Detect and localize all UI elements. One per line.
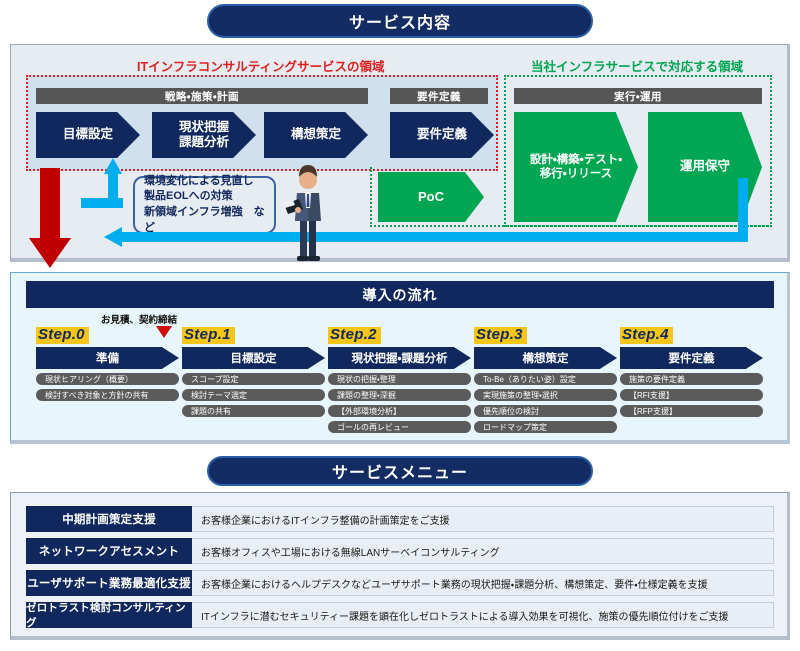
chevron-operation-maintenance-label: 運用保守 <box>680 159 730 174</box>
flow-step-4-item-0: 施策の要件定義 <box>620 373 763 385</box>
cyan-return-arrow-vertical <box>108 172 118 204</box>
service-menu-row-1-description: お客様オフィスや工場における無線LANサーベイコンサルティング <box>192 538 774 564</box>
diagram-page: サービス内容 ITインフラコンサルティングサービスの領域 当社インフラサービスで… <box>0 0 800 651</box>
flow-step-1-item-0: スコープ設定 <box>182 373 325 385</box>
service-menu-row-1-name: ネットワークアセスメント <box>26 538 192 564</box>
flow-step-2-item-2: 【外部環境分析】 <box>328 405 471 417</box>
cyan-loop-left-arrowhead-icon <box>104 227 122 247</box>
chevron-design-build-test: 設計・構築・テスト・ 移行・リリース <box>514 112 638 222</box>
stage-bar-execution: 実行・運用 <box>514 88 762 104</box>
flow-step-3-item-3: ロードマップ策定 <box>474 421 617 433</box>
cyan-return-arrowhead-icon <box>104 158 122 174</box>
service-menu-row-2-description: お客様企業におけるヘルプデスクなどユーザサポート業務の現状把握・課題分析、構想策… <box>192 570 774 596</box>
chevron-concept-planning-label: 構想策定 <box>291 127 341 142</box>
flow-section-header: 導入の流れ <box>26 281 774 308</box>
stage-bar-requirements: 要件定義 <box>390 88 488 104</box>
flow-step-2-item-3: ゴールの再レビュー <box>328 421 471 433</box>
chevron-design-build-test-label: 設計・構築・テスト・ 移行・リリース <box>530 153 622 181</box>
callout-line-2: 製品EOLへの対策 <box>144 189 274 205</box>
chevron-requirement-definition-label: 要件定義 <box>417 127 467 142</box>
flow-step-1: Step.1 目標設定 スコープ設定 検討テーマ選定 課題の共有 <box>182 326 325 417</box>
callout-box: 環境変化による見直し 製品EOLへの対策 新領域インフラ増強 など <box>133 176 276 234</box>
flow-step-1-number: Step.1 <box>182 327 235 344</box>
stage-bar-strategy: 戦略・施策・計画 <box>36 88 368 104</box>
flow-step-2-number: Step.2 <box>328 327 381 344</box>
red-down-arrow-head-icon <box>29 238 71 268</box>
chevron-current-analysis-label: 現状把握 課題分析 <box>179 120 229 151</box>
flow-step-0-item-1: 検討すべき対象と方針の共有 <box>36 389 179 401</box>
stage-bar-strategy-label: 戦略・施策・計画 <box>165 89 239 104</box>
flow-step-2-item-0: 現状の把握・整理 <box>328 373 471 385</box>
service-content-banner: サービス内容 <box>207 4 593 38</box>
flow-step-4-item-2: 【RFP支援】 <box>620 405 763 417</box>
flow-step-0-title: 準備 <box>36 347 179 369</box>
service-content-title: サービス内容 <box>349 9 451 33</box>
red-down-arrow-icon <box>40 168 60 240</box>
flow-step-3-item-1: 実現施策の整理・選択 <box>474 389 617 401</box>
chevron-goal-setting-label: 目標設定 <box>63 127 113 142</box>
quote-contract-label: お見積、契約締結 <box>101 312 177 326</box>
flow-step-3-item-0: To-Be（ありたい姿）設定 <box>474 373 617 385</box>
service-menu-row-1: ネットワークアセスメント お客様オフィスや工場における無線LANサーベイコンサル… <box>26 538 774 564</box>
consulting-region-label: ITインフラコンサルティングサービスの領域 <box>137 56 384 75</box>
service-menu-row-0-description: お客様企業におけるITインフラ整備の計画策定をご支援 <box>192 506 774 532</box>
service-menu-row-0: 中期計画策定支援 お客様企業におけるITインフラ整備の計画策定をご支援 <box>26 506 774 532</box>
flow-step-1-title: 目標設定 <box>182 347 325 369</box>
service-menu-row-2-name: ユーザサポート業務最適化支援 <box>26 570 192 596</box>
chevron-poc: PoC <box>378 172 484 222</box>
callout-line-1: 環境変化による見直し <box>144 174 274 190</box>
service-menu-row-2: ユーザサポート業務最適化支援 お客様企業におけるヘルプデスクなどユーザサポート業… <box>26 570 774 596</box>
infra-service-region-label: 当社インフラサービスで対応する領域 <box>531 56 743 75</box>
flow-step-2-item-1: 課題の整理・深掘 <box>328 389 471 401</box>
chevron-poc-label: PoC <box>418 189 444 205</box>
flow-step-4-number: Step.4 <box>620 327 673 344</box>
businessman-illustration-icon <box>283 163 333 262</box>
flow-step-3: Step.3 構想策定 To-Be（ありたい姿）設定 実現施策の整理・選択 優先… <box>474 326 617 433</box>
flow-step-0-number: Step.0 <box>36 327 89 344</box>
service-menu-banner: サービスメニュー <box>207 456 593 486</box>
service-menu-row-3-description: ITインフラに潜むセキュリティー課題を顕在化しゼロトラストによる導入効果を可視化… <box>192 602 774 628</box>
flow-step-2-title: 現状把握・課題分析 <box>328 347 471 369</box>
flow-step-0-item-0: 現状ヒアリング（概要） <box>36 373 179 385</box>
cyan-feedback-loop-icon <box>121 232 748 242</box>
flow-step-1-item-2: 課題の共有 <box>182 405 325 417</box>
flow-step-3-item-2: 優先順位の検討 <box>474 405 617 417</box>
service-menu-row-3: ゼロトラスト検討コンサルティング ITインフラに潜むセキュリティー課題を顕在化し… <box>26 602 774 628</box>
flow-step-4-title: 要件定義 <box>620 347 763 369</box>
flow-section-title: 導入の流れ <box>363 285 438 305</box>
flow-step-1-item-1: 検討テーマ選定 <box>182 389 325 401</box>
stage-bar-execution-label: 実行・運用 <box>614 89 662 104</box>
flow-step-3-number: Step.3 <box>474 327 527 344</box>
stage-bar-requirements-label: 要件定義 <box>417 89 461 104</box>
service-menu-row-0-name: 中期計画策定支援 <box>26 506 192 532</box>
service-menu-title: サービスメニュー <box>332 459 468 483</box>
flow-step-2: Step.2 現状把握・課題分析 現状の把握・整理 課題の整理・深掘 【外部環境… <box>328 326 471 433</box>
flow-step-3-title: 構想策定 <box>474 347 617 369</box>
cyan-loop-right-riser <box>738 178 748 236</box>
flow-step-0: Step.0 準備 現状ヒアリング（概要） 検討すべき対象と方針の共有 <box>36 326 179 401</box>
flow-step-4-item-1: 【RFI支援】 <box>620 389 763 401</box>
flow-step-4: Step.4 要件定義 施策の要件定義 【RFI支援】 【RFP支援】 <box>620 326 763 417</box>
service-menu-row-3-name: ゼロトラスト検討コンサルティング <box>26 602 192 628</box>
